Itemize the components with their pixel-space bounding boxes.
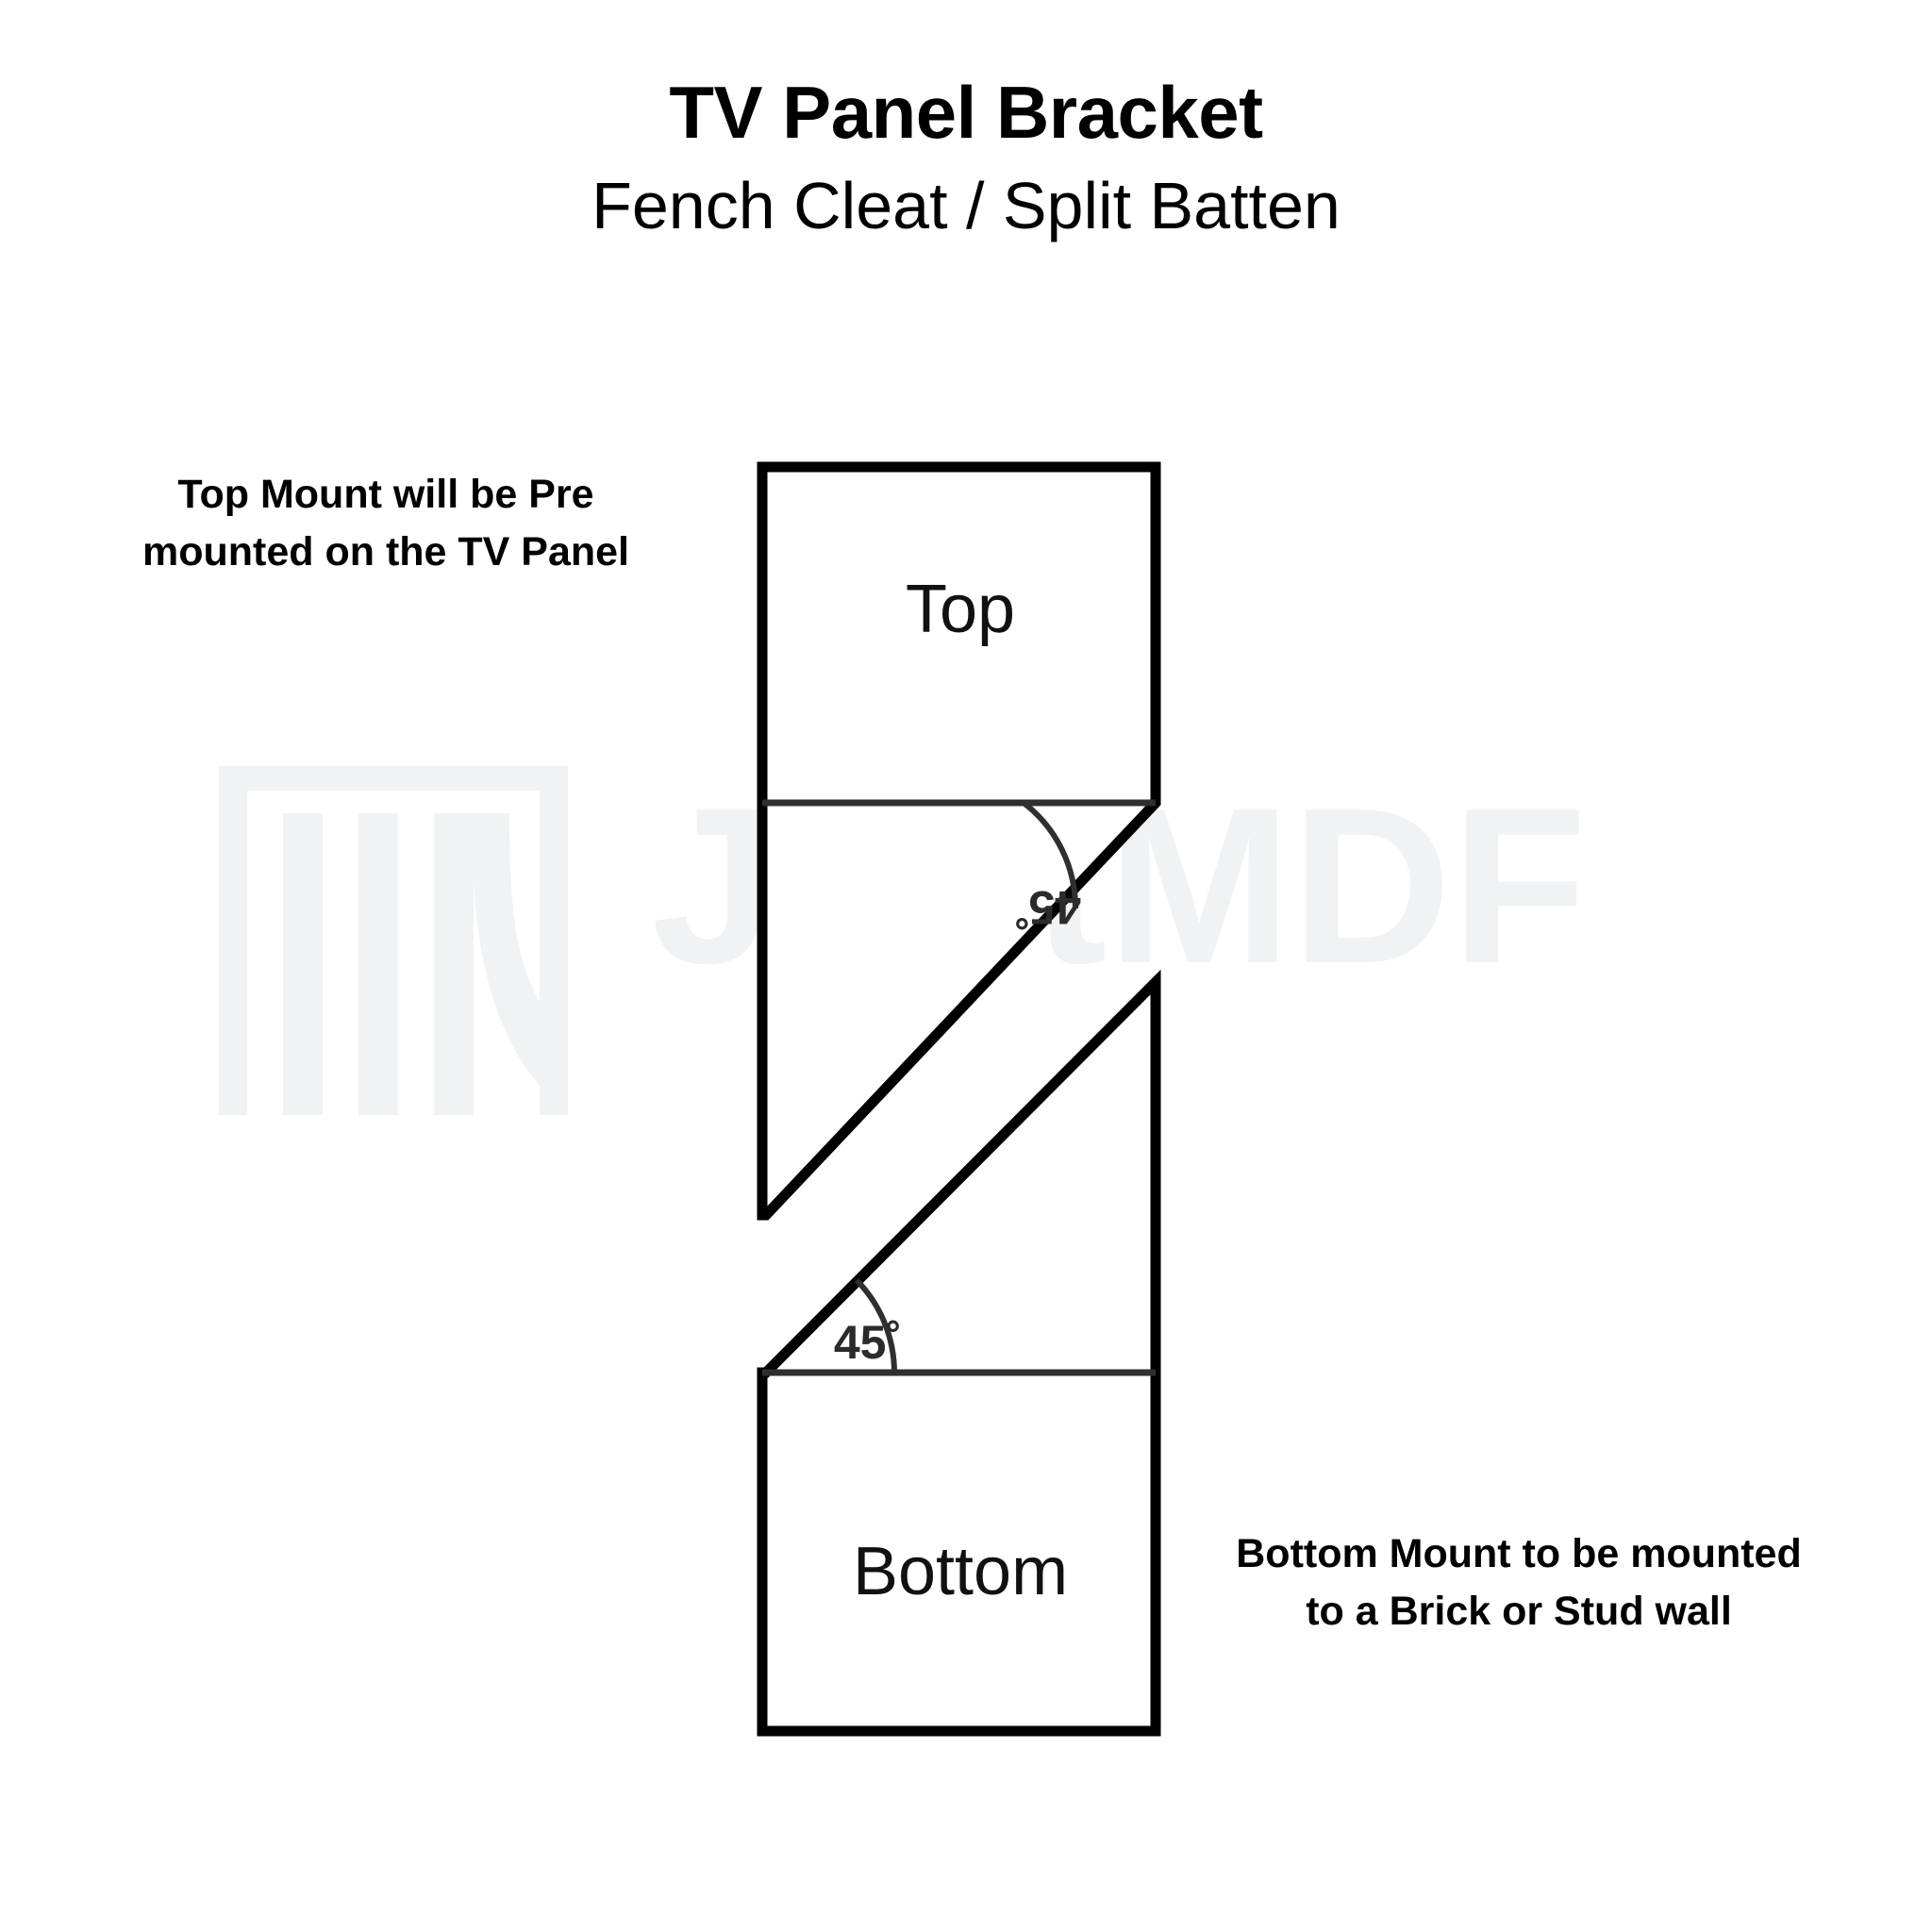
bottom-piece-label: Bottom: [853, 1534, 1068, 1609]
top-piece-label: Top: [906, 572, 1015, 647]
angle-label-top: 45˚: [1013, 881, 1081, 934]
page-root: JustMDF TV Panel Bracket Fench Cleat / S…: [0, 0, 1932, 1932]
angle-label-bottom: 45˚: [834, 1316, 902, 1369]
bracket-drawing: Top 45˚ Bottom 45˚: [0, 0, 1932, 1932]
